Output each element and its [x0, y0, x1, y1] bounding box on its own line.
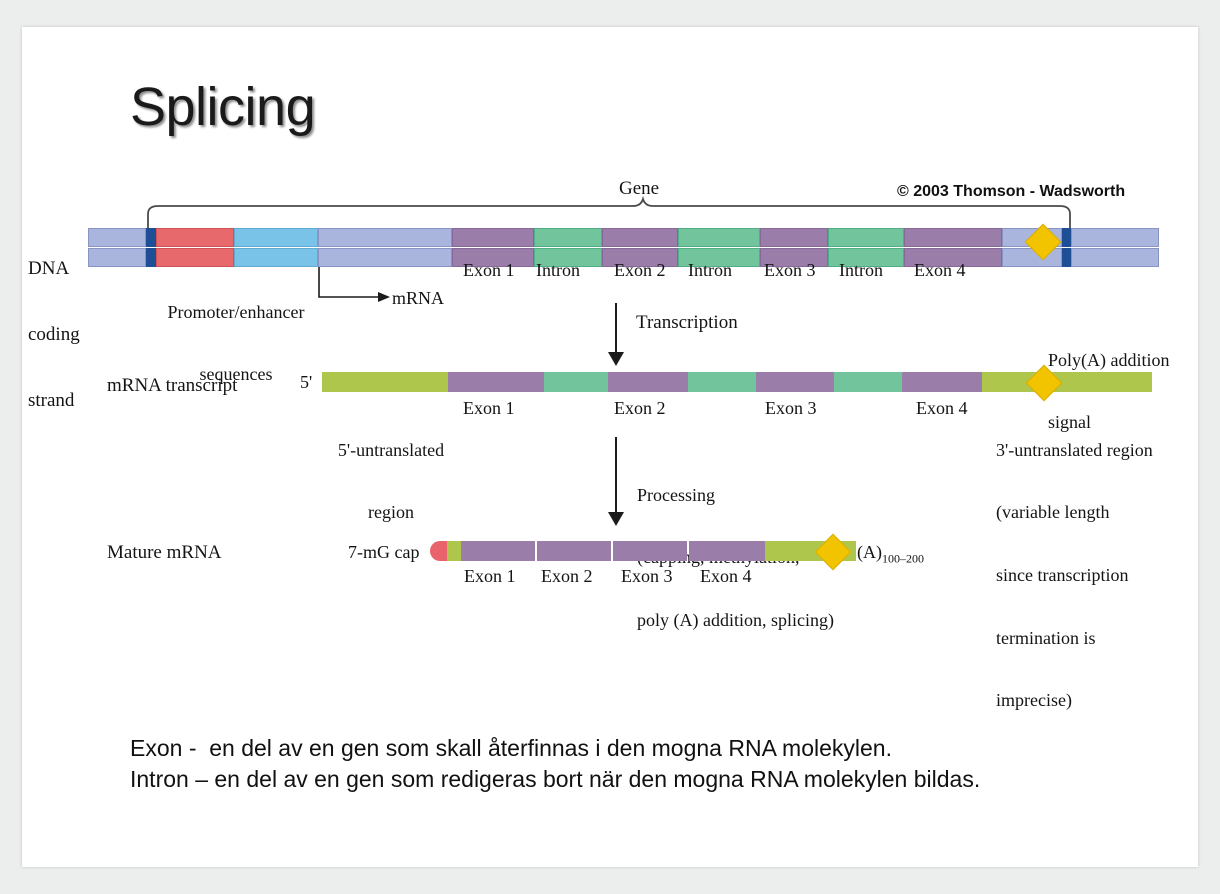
dna-track-label-exon-4: Exon 4 — [914, 260, 966, 281]
utr3-label-line-5: imprecise) — [996, 690, 1153, 711]
transcript-exon-4 — [902, 372, 982, 392]
gene-label: Gene — [619, 178, 659, 200]
transcription-arrow-head-icon — [608, 352, 624, 366]
dna-track-label-exon-3: Exon 3 — [764, 260, 816, 281]
dna-upper-intron-1 — [534, 228, 602, 247]
mature-label-exon-4: Exon 4 — [700, 566, 752, 587]
processing-label-line-1: Processing — [637, 485, 834, 506]
mature-label-exon-3: Exon 3 — [621, 566, 673, 587]
utr3-label-line-2: (variable length — [996, 502, 1153, 523]
dna-upper-exon-4 — [904, 228, 1002, 247]
dna-coding-strand-label: DNA coding strand — [28, 214, 80, 456]
definition-exon-text: Exon - en del av en gen som skall återfi… — [130, 735, 892, 762]
page-title: Splicing — [130, 76, 315, 138]
transcript-exon-2 — [608, 372, 688, 392]
copyright-notice: © 2003 Thomson - Wadsworth — [897, 183, 1125, 201]
polya-label-line-1: Poly(A) addition — [1048, 350, 1170, 371]
dna-track-label-intron-3: Intron — [839, 260, 883, 281]
transcript-label-exon-3: Exon 3 — [765, 398, 817, 419]
dna-upper-exon-3 — [760, 228, 828, 247]
polya-tail-subscript: 100–200 — [882, 552, 924, 566]
utr3-label-line-1: 3'-untranslated region — [996, 440, 1153, 461]
definition-intron-text: Intron – en del av en gen som redigeras … — [130, 766, 980, 793]
dna-upper-intron-3 — [828, 228, 904, 247]
five-prime-label: 5' — [300, 372, 312, 393]
mature-exon-1 — [461, 541, 535, 561]
utr5-label-line-2: region — [333, 502, 449, 523]
utr3-label-line-4: termination is — [996, 628, 1153, 649]
transcript-utr3 — [982, 372, 1152, 392]
mature-exon-4 — [689, 541, 765, 561]
dna-lower-end-bar — [1062, 248, 1071, 267]
dna-track-label-intron-1: Intron — [536, 260, 580, 281]
dna-lower-flank-right — [1071, 248, 1159, 267]
processing-arrow-head-icon — [608, 512, 624, 526]
transcription-label: Transcription — [636, 312, 738, 334]
mature-label-exon-1: Exon 1 — [464, 566, 516, 587]
transcript-utr5 — [322, 372, 448, 392]
promoter-enhancer-label: Promoter/enhancer sequences — [153, 260, 319, 427]
slide-root: Splicing © 2003 Thomson - Wadsworth DNA … — [0, 0, 1220, 894]
mature-mrna-label: Mature mRNA — [107, 542, 222, 564]
dna-lower-flank-mid — [318, 248, 452, 267]
dna-upper-exon-2 — [602, 228, 678, 247]
processing-arrow-shaft — [615, 437, 617, 515]
utr3-label: 3'-untranslated region (variable length … — [996, 398, 1153, 753]
dna-upper-flank-left — [88, 228, 146, 247]
utr5-label-line-1: 5'-untranslated — [333, 440, 449, 461]
mature-cap-linker — [447, 541, 461, 561]
processing-label-line-3: poly (A) addition, splicing) — [637, 610, 834, 631]
dna-upper-intron-2 — [678, 228, 760, 247]
transcript-intron-2 — [688, 372, 756, 392]
transcription-arrow-shaft — [615, 303, 617, 355]
dna-upper-flank-right — [1071, 228, 1159, 247]
promoter-label-line-1: Promoter/enhancer — [153, 302, 319, 323]
dna-upper-end-bar — [1062, 228, 1071, 247]
dna-label-line-1: DNA — [28, 258, 80, 280]
transcript-intron-3 — [834, 372, 902, 392]
dna-track-label-exon-2: Exon 2 — [614, 260, 666, 281]
polya-tail-label: (A)100–200 — [857, 542, 924, 567]
polya-tail-text: (A) — [857, 542, 882, 562]
mrna-pointer-label: mRNA — [392, 288, 444, 309]
transcript-intron-1 — [544, 372, 608, 392]
dna-label-line-3: strand — [28, 390, 80, 412]
dna-upper-promoter — [156, 228, 234, 247]
dna-track-label-exon-1: Exon 1 — [463, 260, 515, 281]
dna-lower-utr3 — [1002, 248, 1062, 267]
mrna-transcript-label: mRNA transcript — [107, 375, 237, 397]
transcript-label-exon-1: Exon 1 — [463, 398, 515, 419]
utr3-label-line-3: since transcription — [996, 565, 1153, 586]
mature-exon-3 — [613, 541, 687, 561]
mature-exon-2 — [537, 541, 611, 561]
transcript-exon-1 — [448, 372, 544, 392]
dna-upper-exon-1 — [452, 228, 534, 247]
transcript-label-exon-2: Exon 2 — [614, 398, 666, 419]
mature-label-exon-2: Exon 2 — [541, 566, 593, 587]
dna-upper-start-bar — [146, 228, 156, 247]
dna-lower-flank-left — [88, 248, 146, 267]
dna-upper-flank-mid — [318, 228, 452, 247]
dna-label-line-2: coding — [28, 324, 80, 346]
transcript-exon-3 — [756, 372, 834, 392]
utr5-label: 5'-untranslated region — [333, 398, 449, 565]
cap-label: 7-mG cap — [348, 542, 419, 563]
dna-track-label-intron-2: Intron — [688, 260, 732, 281]
transcript-label-exon-4: Exon 4 — [916, 398, 968, 419]
dna-upper-enhancer — [234, 228, 318, 247]
